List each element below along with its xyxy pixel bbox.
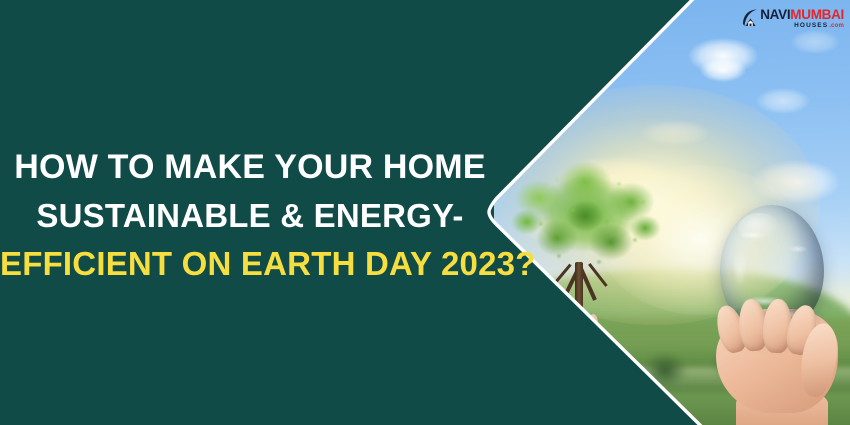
earth-highlight — [738, 213, 780, 243]
headline-line-2: SUSTAINABLE & ENERGY- — [0, 199, 500, 232]
logo-word-dotcom: .com — [829, 23, 844, 29]
house-mountain-icon — [742, 9, 758, 28]
headline-line-1: HOW TO MAKE YOUR HOME — [0, 150, 500, 184]
logo-primary-row: NAVI MUMBAI — [760, 8, 844, 22]
hands-holding-earth — [706, 205, 850, 425]
logo-word-navi: NAVI — [760, 8, 790, 22]
navi-mumbai-houses-logo[interactable]: NAVI MUMBAI HOUSES .com — [742, 8, 844, 29]
logo-word-mumbai: MUMBAI — [790, 8, 844, 22]
headline-line-3: EFFICIENT ON EARTH DAY 2023? — [0, 247, 500, 280]
logo-secondary-row: HOUSES .com — [794, 23, 844, 30]
earth-day-banner: HOW TO MAKE YOUR HOME SUSTAINABLE & ENER… — [0, 0, 850, 425]
logo-word-houses: HOUSES — [794, 23, 828, 30]
logo-wordmark: NAVI MUMBAI HOUSES .com — [760, 8, 844, 29]
headline-block: HOW TO MAKE YOUR HOME SUSTAINABLE & ENER… — [0, 150, 500, 280]
